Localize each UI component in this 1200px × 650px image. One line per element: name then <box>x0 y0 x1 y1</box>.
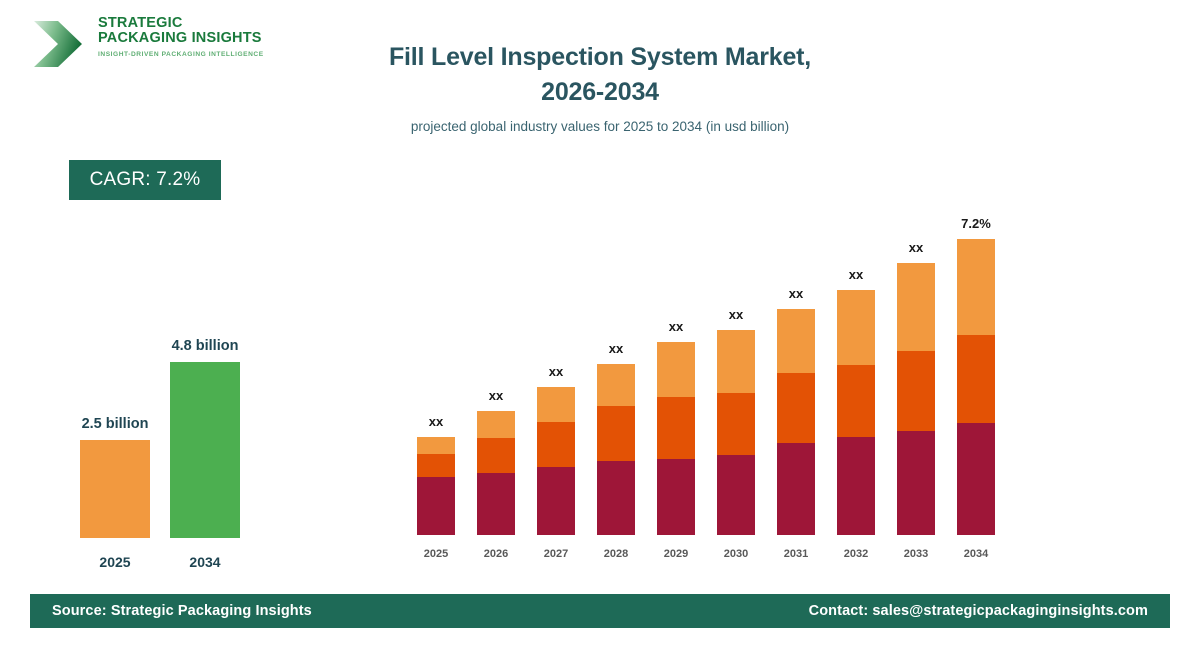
title-block: Fill Level Inspection System Market, 202… <box>260 40 940 134</box>
comparison-year-label: 2034 <box>142 554 268 570</box>
footer-bar: Source: Strategic Packaging Insights Con… <box>30 594 1170 628</box>
bar-segment-mid-2027 <box>537 422 575 467</box>
bar-segment-top-2030 <box>717 330 755 393</box>
bar-segment-mid-2030 <box>717 393 755 455</box>
stacked-bar-year-label: 2027 <box>524 548 588 560</box>
stacked-bar-column-2032: xx2032 <box>837 195 875 560</box>
bar-segment-bottom-2026 <box>477 473 515 535</box>
stacked-bar-value-label: xx <box>459 388 533 403</box>
stacked-bar-column-2027: xx2027 <box>537 195 575 560</box>
bar-segment-mid-2031 <box>777 373 815 443</box>
bar-segment-mid-2033 <box>897 351 935 431</box>
page-title-line-2: 2026-2034 <box>260 75 940 110</box>
page-title: Fill Level Inspection System Market, 202… <box>260 40 940 110</box>
stacked-bar-column-2028: xx2028 <box>597 195 635 560</box>
cagr-badge: CAGR: 7.2% <box>69 160 221 200</box>
bar-segment-mid-2032 <box>837 365 875 437</box>
footer-source: Source: Strategic Packaging Insights <box>52 603 312 619</box>
stacked-bar-year-label: 2034 <box>944 548 1008 560</box>
stacked-bar-year-label: 2030 <box>704 548 768 560</box>
bar-segment-top-2027 <box>537 387 575 422</box>
bar-segment-bottom-2028 <box>597 461 635 535</box>
bar-segment-mid-2026 <box>477 438 515 473</box>
bar-segment-top-2033 <box>897 263 935 351</box>
stacked-bar-value-label: xx <box>759 286 833 301</box>
comparison-bar-2034 <box>170 362 240 538</box>
comparison-chart: 2.5 billion 2025 4.8 billion 2034 <box>55 300 295 570</box>
logo-line-2: PACKAGING INSIGHTS <box>98 31 264 46</box>
stacked-bar-value-label: 7.2% <box>939 216 1013 231</box>
comparison-value-label: 4.8 billion <box>142 338 268 354</box>
stacked-bar-value-label: xx <box>819 267 893 282</box>
stacked-bar-value-label: xx <box>519 364 593 379</box>
cagr-badge-label: CAGR: 7.2% <box>90 169 201 191</box>
footer-contact: Contact: sales@strategicpackaginginsight… <box>809 603 1148 619</box>
bar-segment-top-2031 <box>777 309 815 373</box>
bar-segment-bottom-2033 <box>897 431 935 535</box>
bar-segment-bottom-2027 <box>537 467 575 535</box>
bar-segment-top-2025 <box>417 437 455 454</box>
stacked-bar-value-label: xx <box>579 341 653 356</box>
stacked-bar-year-label: 2026 <box>464 548 528 560</box>
stacked-bar-year-label: 2029 <box>644 548 708 560</box>
stacked-bar-column-2034: 7.2%2034 <box>957 195 995 560</box>
stacked-bar-2028 <box>597 364 635 535</box>
stacked-bar-value-label: xx <box>879 240 953 255</box>
stacked-bar-column-2029: xx2029 <box>657 195 695 560</box>
page-title-line-1: Fill Level Inspection System Market, <box>260 40 940 75</box>
stacked-bar-2031 <box>777 309 815 535</box>
stacked-bar-2025 <box>417 437 455 535</box>
bar-segment-top-2034 <box>957 239 995 335</box>
stacked-bar-chart: xx2025xx2026xx2027xx2028xx2029xx2030xx20… <box>405 195 1025 560</box>
logo-line-1: STRATEGIC <box>98 16 264 31</box>
stacked-bar-year-label: 2033 <box>884 548 948 560</box>
stacked-bar-column-2030: xx2030 <box>717 195 755 560</box>
stacked-bar-2034 <box>957 239 995 535</box>
stacked-bar-year-label: 2025 <box>404 548 468 560</box>
bar-segment-bottom-2031 <box>777 443 815 535</box>
logo-tagline: INSIGHT-DRIVEN PACKAGING INTELLIGENCE <box>98 51 264 58</box>
bar-segment-top-2026 <box>477 411 515 438</box>
stacked-bar-year-label: 2028 <box>584 548 648 560</box>
stacked-bar-value-label: xx <box>699 307 773 322</box>
stacked-bar-2032 <box>837 290 875 535</box>
stacked-bar-2027 <box>537 387 575 535</box>
stacked-bar-year-label: 2032 <box>824 548 888 560</box>
comparison-bar-2025 <box>80 440 150 538</box>
stacked-bar-column-2033: xx2033 <box>897 195 935 560</box>
bar-segment-bottom-2032 <box>837 437 875 535</box>
stacked-bar-2033 <box>897 263 935 535</box>
bar-segment-bottom-2029 <box>657 459 695 535</box>
bar-segment-mid-2028 <box>597 406 635 461</box>
chevron-right-icon <box>32 18 88 70</box>
bar-segment-mid-2034 <box>957 335 995 423</box>
page-subtitle: projected global industry values for 202… <box>260 119 940 134</box>
stacked-bar-column-2026: xx2026 <box>477 195 515 560</box>
bar-segment-bottom-2025 <box>417 477 455 535</box>
brand-logo: STRATEGIC PACKAGING INSIGHTS INSIGHT-DRI… <box>32 16 262 76</box>
stacked-bar-2029 <box>657 342 695 535</box>
logo-wordmark: STRATEGIC PACKAGING INSIGHTS INSIGHT-DRI… <box>98 16 264 58</box>
stacked-bar-column-2031: xx2031 <box>777 195 815 560</box>
bar-segment-top-2028 <box>597 364 635 406</box>
stacked-bar-year-label: 2031 <box>764 548 828 560</box>
stacked-bar-value-label: xx <box>399 414 473 429</box>
stacked-bar-column-2025: xx2025 <box>417 195 455 560</box>
stacked-bar-2026 <box>477 411 515 535</box>
bar-segment-bottom-2030 <box>717 455 755 535</box>
bar-segment-bottom-2034 <box>957 423 995 535</box>
bar-segment-mid-2025 <box>417 454 455 477</box>
bar-segment-top-2032 <box>837 290 875 365</box>
bar-segment-top-2029 <box>657 342 695 397</box>
bar-segment-mid-2029 <box>657 397 695 459</box>
comparison-value-label: 2.5 billion <box>52 416 178 432</box>
stacked-bar-2030 <box>717 330 755 535</box>
